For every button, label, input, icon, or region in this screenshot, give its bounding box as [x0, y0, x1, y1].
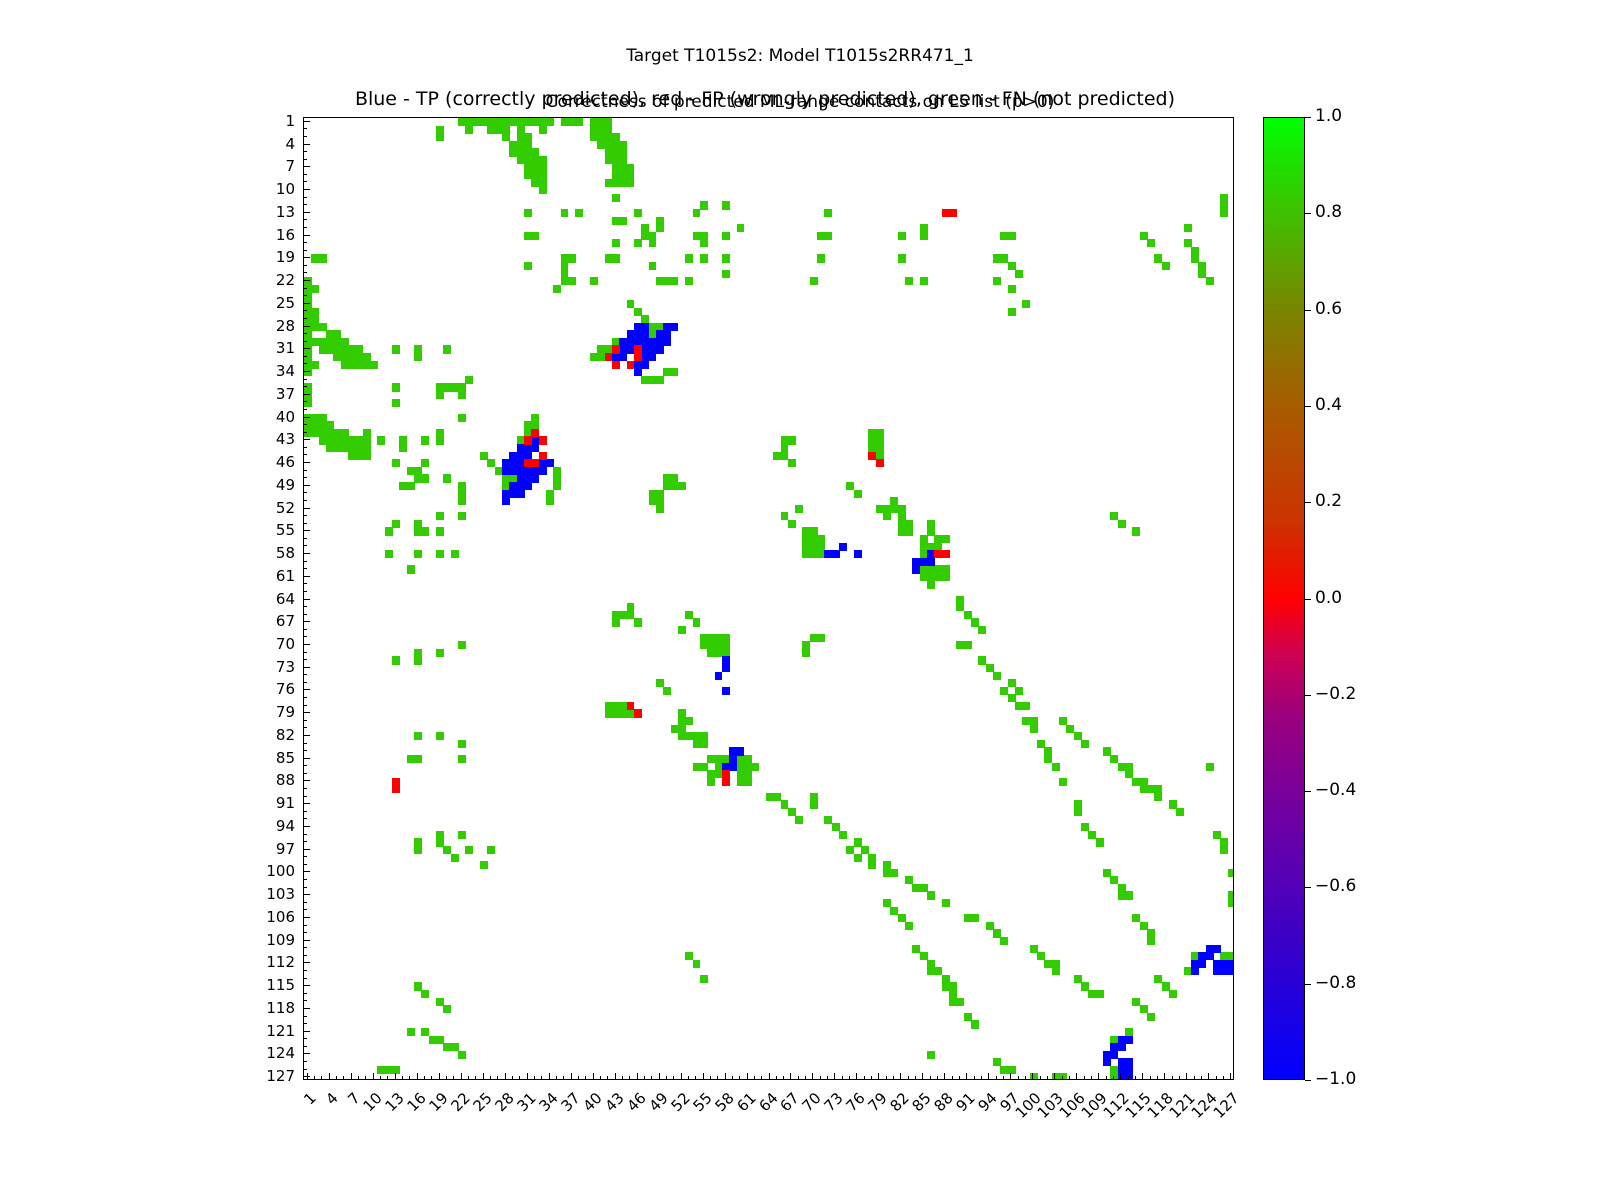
y-tick-minor	[303, 295, 307, 296]
x-tick-minor	[629, 1076, 630, 1080]
fn-cell	[458, 512, 466, 520]
fn-cell	[1206, 277, 1214, 285]
tp-cell	[517, 490, 525, 498]
y-tick-major	[303, 348, 310, 349]
fn-cell	[971, 1020, 979, 1028]
y-tick-major	[303, 257, 310, 258]
suptitle-line-1: Target T1015s2: Model T1015s2RR471_1	[626, 46, 974, 66]
y-tick-minor	[303, 181, 307, 182]
y-tick-minor	[303, 515, 307, 516]
tp-cell	[1103, 1058, 1111, 1066]
y-tick-major	[303, 280, 310, 281]
y-tick-minor	[303, 811, 307, 812]
fn-cell	[920, 573, 928, 581]
x-tick-major	[988, 1073, 989, 1080]
y-tick-major	[303, 326, 310, 327]
y-tick-minor	[303, 310, 307, 311]
y-tick-minor	[303, 561, 307, 562]
y-tick-major	[303, 917, 310, 918]
fn-cell	[920, 232, 928, 240]
x-tick-minor	[761, 1076, 762, 1080]
fn-cell	[443, 1005, 451, 1013]
y-axis-tick-label: 19	[235, 248, 295, 266]
y-tick-major	[303, 576, 310, 577]
y-tick-major	[303, 189, 310, 190]
fn-cell	[693, 960, 701, 968]
tp-cell	[1213, 945, 1221, 953]
fn-cell	[1008, 308, 1016, 316]
y-tick-major	[303, 621, 310, 622]
fn-cell	[421, 459, 429, 467]
x-tick-minor	[541, 1076, 542, 1080]
fn-cell	[649, 262, 657, 270]
fn-cell	[436, 133, 444, 141]
y-tick-minor	[303, 219, 307, 220]
fn-cell	[1162, 262, 1170, 270]
fn-cell	[722, 270, 730, 278]
fn-cell	[436, 550, 444, 558]
colorbar-tick-label: −0.6	[1315, 876, 1356, 896]
tp-cell	[517, 474, 525, 482]
fn-cell	[363, 452, 371, 460]
x-tick-minor	[908, 1076, 909, 1080]
fp-cell	[627, 702, 635, 710]
x-tick-major	[1076, 1073, 1077, 1080]
x-tick-major	[1142, 1073, 1143, 1080]
fn-cell	[656, 497, 664, 505]
x-tick-minor	[431, 1076, 432, 1080]
x-tick-minor	[1113, 1076, 1114, 1080]
fn-cell	[883, 512, 891, 520]
y-tick-major	[303, 803, 310, 804]
fp-cell	[605, 353, 613, 361]
x-tick-minor	[1150, 1076, 1151, 1080]
y-axis-tick-label: 34	[235, 362, 295, 380]
fn-cell	[649, 497, 657, 505]
contact-map-cells	[304, 118, 1233, 1079]
y-tick-minor	[303, 447, 307, 448]
fn-cell	[1220, 846, 1228, 854]
y-tick-major	[303, 235, 310, 236]
tp-cell	[737, 747, 745, 755]
y-tick-minor	[303, 1023, 307, 1024]
fn-cell	[671, 368, 679, 376]
x-tick-minor	[475, 1076, 476, 1080]
y-tick-minor	[303, 727, 307, 728]
fn-cell	[414, 353, 422, 361]
y-tick-major	[303, 599, 310, 600]
fn-cell	[1228, 869, 1234, 877]
tp-cell	[656, 345, 664, 353]
x-tick-minor	[365, 1076, 366, 1080]
y-tick-minor	[303, 379, 307, 380]
fn-cell	[656, 505, 664, 513]
fn-cell	[700, 239, 708, 247]
y-axis-tick-label: 52	[235, 499, 295, 517]
tp-cell	[832, 550, 840, 558]
fn-cell	[575, 209, 583, 217]
fn-cell	[436, 436, 444, 444]
fn-cell	[443, 474, 451, 482]
fp-cell	[949, 209, 957, 217]
fn-cell	[905, 277, 913, 285]
y-tick-major	[303, 485, 310, 486]
fn-cell	[788, 459, 796, 467]
fn-cell	[407, 565, 415, 573]
x-tick-minor	[1179, 1076, 1180, 1080]
y-tick-minor	[303, 523, 307, 524]
x-tick-minor	[915, 1076, 916, 1080]
fn-cell	[634, 209, 642, 217]
y-axis-tick-label: 7	[235, 157, 295, 175]
colorbar-tick-label: 0.8	[1315, 202, 1342, 222]
tp-cell	[715, 672, 723, 680]
fn-cell	[810, 277, 818, 285]
fn-cell	[671, 482, 679, 490]
fn-cell	[414, 755, 422, 763]
tp-cell	[729, 763, 737, 771]
fn-cell	[744, 755, 752, 763]
fn-cell	[663, 482, 671, 490]
y-tick-minor	[303, 1046, 307, 1047]
y-tick-minor	[303, 879, 307, 880]
fn-cell	[370, 361, 378, 369]
fn-cell	[1000, 937, 1008, 945]
colorbar-tick-label: −0.8	[1315, 973, 1356, 993]
y-tick-minor	[303, 970, 307, 971]
x-tick-minor	[1047, 1076, 1048, 1080]
x-tick-minor	[380, 1076, 381, 1080]
fn-cell	[978, 626, 986, 634]
x-tick-minor	[776, 1076, 777, 1080]
fn-cell	[421, 527, 429, 535]
y-tick-minor	[303, 1038, 307, 1039]
fn-cell	[898, 254, 906, 262]
fn-cell	[700, 201, 708, 209]
fn-cell	[553, 482, 561, 490]
x-tick-major	[1186, 1073, 1187, 1080]
x-tick-major	[637, 1073, 638, 1080]
colorbar-tick-label: 0.2	[1315, 491, 1342, 511]
x-tick-minor	[343, 1076, 344, 1080]
y-tick-major	[303, 303, 310, 304]
fn-cell	[678, 626, 686, 634]
x-tick-minor	[1223, 1076, 1224, 1080]
x-tick-major	[373, 1073, 374, 1080]
x-tick-minor	[842, 1076, 843, 1080]
fn-cell	[612, 239, 620, 247]
fn-cell	[656, 376, 664, 384]
fn-cell	[693, 209, 701, 217]
tp-cell	[839, 543, 847, 551]
fn-cell	[927, 581, 935, 589]
fn-cell	[927, 891, 935, 899]
y-tick-minor	[303, 841, 307, 842]
fn-cell	[458, 755, 466, 763]
y-tick-major	[303, 530, 310, 531]
fn-cell	[1132, 527, 1140, 535]
colorbar[interactable]: 1.00.80.60.40.20.0−0.2−0.4−0.6−0.8−1.0	[1263, 117, 1305, 1080]
x-tick-major	[966, 1073, 967, 1080]
tp-cell	[1118, 1043, 1126, 1051]
tp-cell	[671, 323, 679, 331]
y-tick-minor	[303, 128, 307, 129]
y-axis-tick-label: 31	[235, 339, 295, 357]
y-axis-tick-label: 64	[235, 590, 295, 608]
fn-cell	[685, 254, 693, 262]
x-tick-minor	[827, 1076, 828, 1080]
colorbar-tick	[1305, 791, 1311, 792]
y-tick-minor	[303, 583, 307, 584]
fn-cell	[458, 740, 466, 748]
fn-cell	[883, 869, 891, 877]
fn-cell	[1008, 1066, 1016, 1074]
x-tick-major	[922, 1073, 923, 1080]
x-tick-minor	[600, 1076, 601, 1080]
tp-cell	[524, 467, 532, 475]
y-tick-major	[303, 1008, 310, 1009]
y-tick-minor	[303, 773, 307, 774]
colorbar-tick	[1305, 117, 1311, 118]
colorbar-tick-label: −0.2	[1315, 684, 1356, 704]
colorbar-tick	[1305, 502, 1311, 503]
colorbar-tick	[1305, 1080, 1311, 1081]
y-tick-minor	[303, 401, 307, 402]
colorbar-tick-label: 0.4	[1315, 395, 1342, 415]
y-axis-tick-label: 49	[235, 476, 295, 494]
fn-cell	[795, 816, 803, 824]
fn-cell	[421, 436, 429, 444]
fn-cell	[1022, 300, 1030, 308]
fn-cell	[964, 641, 972, 649]
y-tick-minor	[303, 902, 307, 903]
x-tick-minor	[321, 1076, 322, 1080]
y-axis-tick-label: 16	[235, 226, 295, 244]
x-tick-minor	[556, 1076, 557, 1080]
x-tick-major	[461, 1073, 462, 1080]
y-tick-minor	[303, 341, 307, 342]
fp-cell	[868, 452, 876, 460]
fn-cell	[817, 634, 825, 642]
fn-cell	[700, 254, 708, 262]
x-tick-minor	[1128, 1076, 1129, 1080]
y-tick-minor	[303, 629, 307, 630]
fn-cell	[458, 1051, 466, 1059]
x-tick-minor	[930, 1076, 931, 1080]
x-tick-major	[944, 1073, 945, 1080]
x-tick-major	[1032, 1073, 1033, 1080]
fn-cell	[443, 345, 451, 353]
fp-cell	[942, 550, 950, 558]
y-tick-major	[303, 962, 310, 963]
y-axis-tick-label: 13	[235, 203, 295, 221]
x-tick-major	[1054, 1073, 1055, 1080]
x-tick-minor	[754, 1076, 755, 1080]
fn-cell	[1169, 990, 1177, 998]
tp-cell	[502, 497, 510, 505]
y-tick-minor	[303, 856, 307, 857]
x-tick-minor	[1003, 1076, 1004, 1080]
x-tick-major	[659, 1073, 660, 1080]
x-tick-minor	[563, 1076, 564, 1080]
fn-cell	[612, 254, 620, 262]
fn-cell	[407, 482, 415, 490]
y-tick-minor	[303, 796, 307, 797]
x-tick-minor	[424, 1076, 425, 1080]
fn-cell	[927, 520, 935, 528]
x-tick-minor	[468, 1076, 469, 1080]
y-axis-tick-label: 82	[235, 726, 295, 744]
tp-cell	[927, 558, 935, 566]
fn-cell	[1228, 899, 1234, 907]
x-tick-minor	[688, 1076, 689, 1080]
x-tick-major	[395, 1073, 396, 1080]
tp-cell	[1125, 1073, 1133, 1080]
fn-cell	[627, 179, 635, 187]
fn-cell	[1176, 808, 1184, 816]
colorbar-tick	[1305, 599, 1311, 600]
fn-cell	[942, 899, 950, 907]
y-tick-minor	[303, 318, 307, 319]
fn-cell	[619, 217, 627, 225]
fn-cell	[458, 831, 466, 839]
x-tick-minor	[585, 1076, 586, 1080]
y-axis-tick-label: 25	[235, 294, 295, 312]
y-tick-major	[303, 689, 310, 690]
y-tick-minor	[303, 500, 307, 501]
y-tick-minor	[303, 363, 307, 364]
fn-cell	[414, 846, 422, 854]
y-axis-tick-label: 10	[235, 180, 295, 198]
y-tick-minor	[303, 606, 307, 607]
y-tick-minor	[303, 197, 307, 198]
fn-cell	[385, 550, 393, 558]
fp-cell	[722, 778, 730, 786]
x-tick-minor	[497, 1076, 498, 1080]
fn-cell	[1081, 740, 1089, 748]
fn-cell	[436, 732, 444, 740]
x-tick-major	[615, 1073, 616, 1080]
y-axis-tick-label: 118	[235, 999, 295, 1017]
y-tick-minor	[303, 765, 307, 766]
y-tick-major	[303, 121, 310, 122]
y-tick-minor	[303, 834, 307, 835]
y-tick-major	[303, 394, 310, 395]
y-tick-minor	[303, 174, 307, 175]
tp-cell	[663, 338, 671, 346]
tp-cell	[1213, 967, 1221, 975]
fn-cell	[568, 254, 576, 262]
fn-cell	[319, 254, 327, 262]
y-tick-major	[303, 508, 310, 509]
x-tick-minor	[1172, 1076, 1173, 1080]
x-tick-major	[900, 1073, 901, 1080]
y-axis-tick-label: 88	[235, 771, 295, 789]
y-tick-minor	[303, 932, 307, 933]
x-tick-major	[681, 1073, 682, 1080]
y-tick-minor	[303, 492, 307, 493]
x-tick-minor	[622, 1076, 623, 1080]
contact-map-plot[interactable]	[303, 117, 1234, 1080]
fn-cell	[436, 512, 444, 520]
y-tick-minor	[303, 720, 307, 721]
fn-cell	[1030, 1073, 1038, 1080]
y-axis-tick-label: 46	[235, 453, 295, 471]
fn-cell	[1147, 1013, 1155, 1021]
x-tick-minor	[1201, 1076, 1202, 1080]
fn-cell	[1096, 990, 1104, 998]
fn-cell	[311, 361, 319, 369]
y-axis-tick-label: 115	[235, 976, 295, 994]
colorbar-tick-label: −0.4	[1315, 780, 1356, 800]
fn-cell	[854, 490, 862, 498]
y-tick-minor	[303, 159, 307, 160]
fn-cell	[722, 201, 730, 209]
x-tick-minor	[402, 1076, 403, 1080]
fn-cell	[890, 869, 898, 877]
fn-cell	[1015, 270, 1023, 278]
fn-cell	[612, 618, 620, 626]
y-axis-tick-label: 55	[235, 521, 295, 539]
fn-cell	[377, 436, 385, 444]
x-tick-major	[856, 1073, 857, 1080]
tp-cell	[1228, 967, 1234, 975]
y-axis-tick-label: 79	[235, 703, 295, 721]
colorbar-tick	[1305, 695, 1311, 696]
fn-cell	[693, 618, 701, 626]
fn-cell	[795, 505, 803, 513]
y-axis-tick-label: 70	[235, 635, 295, 653]
x-tick-minor	[1018, 1076, 1019, 1080]
fn-cell	[1022, 702, 1030, 710]
tp-cell	[854, 550, 862, 558]
fp-cell	[539, 436, 547, 444]
fn-cell	[385, 527, 393, 535]
y-tick-minor	[303, 1016, 307, 1017]
colorbar-tick	[1305, 213, 1311, 214]
fn-cell	[1206, 763, 1214, 771]
fn-cell	[1228, 891, 1234, 899]
y-tick-minor	[303, 136, 307, 137]
fn-cell	[824, 209, 832, 217]
fn-cell	[392, 345, 400, 353]
x-tick-major	[439, 1073, 440, 1080]
x-tick-minor	[886, 1076, 887, 1080]
y-tick-major	[303, 894, 310, 895]
y-tick-minor	[303, 386, 307, 387]
y-tick-minor	[303, 750, 307, 751]
y-axis-tick-label: 76	[235, 680, 295, 698]
x-tick-minor	[739, 1076, 740, 1080]
tp-cell	[524, 482, 532, 490]
fn-cell	[311, 285, 319, 293]
fn-cell	[1030, 725, 1038, 733]
x-tick-minor	[519, 1076, 520, 1080]
fn-cell	[685, 717, 693, 725]
y-axis-tick-label: 100	[235, 862, 295, 880]
y-tick-minor	[303, 288, 307, 289]
x-tick-minor	[1194, 1076, 1195, 1080]
x-tick-minor	[409, 1076, 410, 1080]
x-tick-minor	[1062, 1076, 1063, 1080]
x-tick-major	[1010, 1073, 1011, 1080]
y-tick-major	[303, 735, 310, 736]
fp-cell	[627, 361, 635, 369]
x-tick-minor	[1106, 1076, 1107, 1080]
fn-cell	[546, 497, 554, 505]
x-tick-major	[549, 1073, 550, 1080]
colorbar-tick-label: 0.0	[1315, 588, 1342, 608]
